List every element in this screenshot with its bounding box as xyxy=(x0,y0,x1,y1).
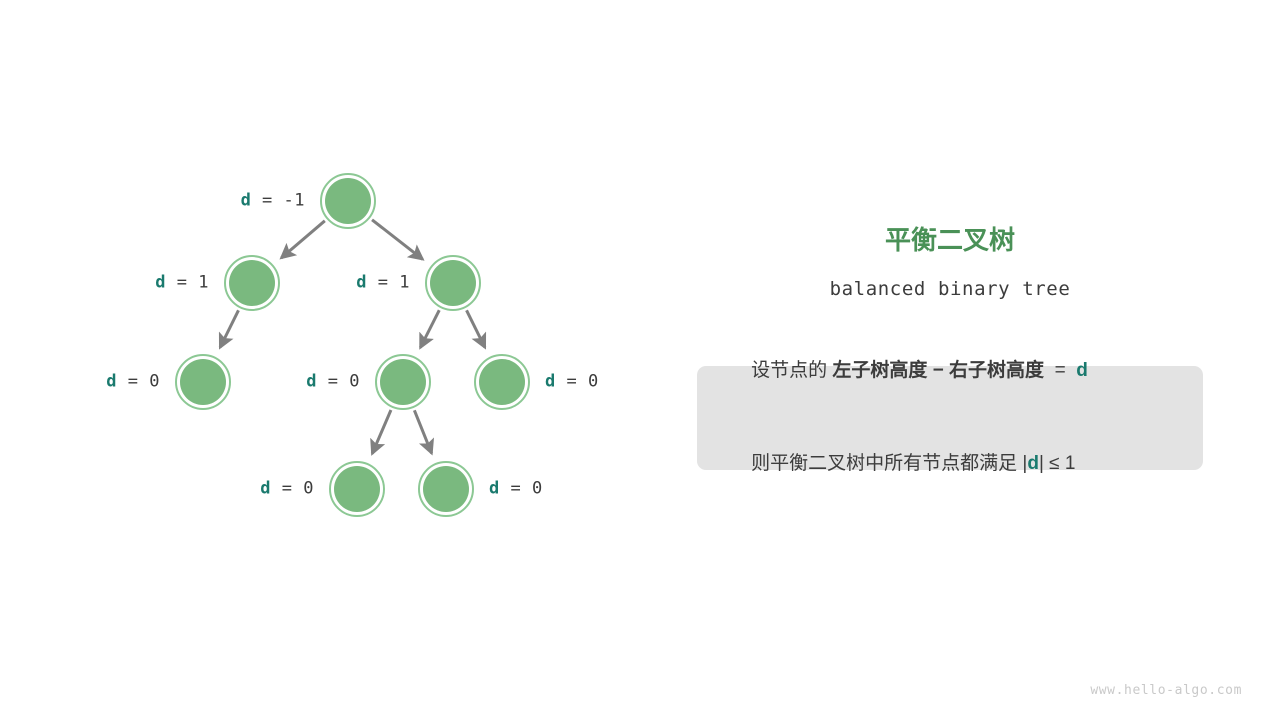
node-balance-factor-label: d = 0 xyxy=(306,374,360,391)
balance-factor-value: = 1 xyxy=(166,273,209,293)
tree-node xyxy=(225,256,279,310)
balance-factor-variable: d xyxy=(489,479,500,499)
balance-factor-value: = 0 xyxy=(117,372,160,392)
tree-node-fill xyxy=(423,466,469,512)
tree-node xyxy=(419,462,473,516)
tree-edge xyxy=(420,310,439,347)
tree-edge xyxy=(220,310,238,347)
balance-factor-value: = 1 xyxy=(367,273,410,293)
definition-line-1-equals: = xyxy=(1044,360,1076,381)
tree-node-fill xyxy=(430,260,476,306)
node-balance-factor-label: d = 0 xyxy=(260,481,314,498)
node-balance-factor-label: d = 0 xyxy=(106,374,160,391)
tree-edges xyxy=(220,220,485,454)
tree-node xyxy=(376,355,430,409)
tree-node xyxy=(330,462,384,516)
node-balance-factor-label: d = 0 xyxy=(489,481,543,498)
balance-factor-variable: d xyxy=(306,372,317,392)
balance-factor-variable: d xyxy=(241,191,252,211)
tree-nodes xyxy=(176,174,529,516)
definition-line-2: 则平衡二叉树中所有节点都满足 |d| ≤ 1 xyxy=(730,418,1203,510)
tree-node xyxy=(475,355,529,409)
balance-factor-variable: d xyxy=(545,372,556,392)
tree-node-fill xyxy=(380,359,426,405)
tree-node-fill xyxy=(479,359,525,405)
balance-factor-value: = -1 xyxy=(251,191,305,211)
balance-factor-value: = 0 xyxy=(317,372,360,392)
definition-line-1-bold: 左子树高度 − 右子树高度 xyxy=(832,360,1044,381)
tree-edge xyxy=(281,221,325,258)
tree-node xyxy=(176,355,230,409)
info-panel: 平衡二叉树 balanced binary tree xyxy=(697,225,1203,301)
definition-line-1-variable: d xyxy=(1076,360,1088,381)
tree-edge xyxy=(414,410,431,453)
definition-line-1-prefix: 设节点的 xyxy=(751,360,832,381)
page-subtitle: balanced binary tree xyxy=(697,278,1203,301)
node-balance-factor-label: d = 1 xyxy=(155,275,209,292)
watermark: www.hello-algo.com xyxy=(1090,683,1242,698)
tree-node xyxy=(321,174,375,228)
balance-factor-value: = 0 xyxy=(271,479,314,499)
tree-edge xyxy=(372,410,391,454)
tree-node xyxy=(426,256,480,310)
tree-edge xyxy=(467,310,485,347)
balance-factor-variable: d xyxy=(106,372,117,392)
page-title: 平衡二叉树 xyxy=(697,225,1203,256)
balance-factor-variable: d xyxy=(155,273,166,293)
node-balance-factor-label: d = 1 xyxy=(356,275,410,292)
definition-line-1: 设节点的 左子树高度 − 右子树高度 = d xyxy=(730,326,1203,418)
definition-line-2-suffix: ≤ 1 xyxy=(1044,453,1076,474)
tree-node-fill xyxy=(325,178,371,224)
balance-factor-variable: d xyxy=(356,273,367,293)
node-balance-factor-label: d = -1 xyxy=(241,193,305,210)
definition-line-2-variable: d xyxy=(1027,453,1039,474)
definition-box: 设节点的 左子树高度 − 右子树高度 = d 则平衡二叉树中所有节点都满足 |d… xyxy=(697,366,1203,470)
balance-factor-value: = 0 xyxy=(556,372,599,392)
definition-line-2-prefix: 则平衡二叉树中所有节点都满足 xyxy=(751,453,1022,474)
balance-factor-value: = 0 xyxy=(500,479,543,499)
balance-factor-variable: d xyxy=(260,479,271,499)
tree-node-fill xyxy=(180,359,226,405)
tree-edge xyxy=(372,220,423,260)
node-balance-factor-label: d = 0 xyxy=(545,374,599,391)
tree-node-fill xyxy=(229,260,275,306)
tree-node-fill xyxy=(334,466,380,512)
